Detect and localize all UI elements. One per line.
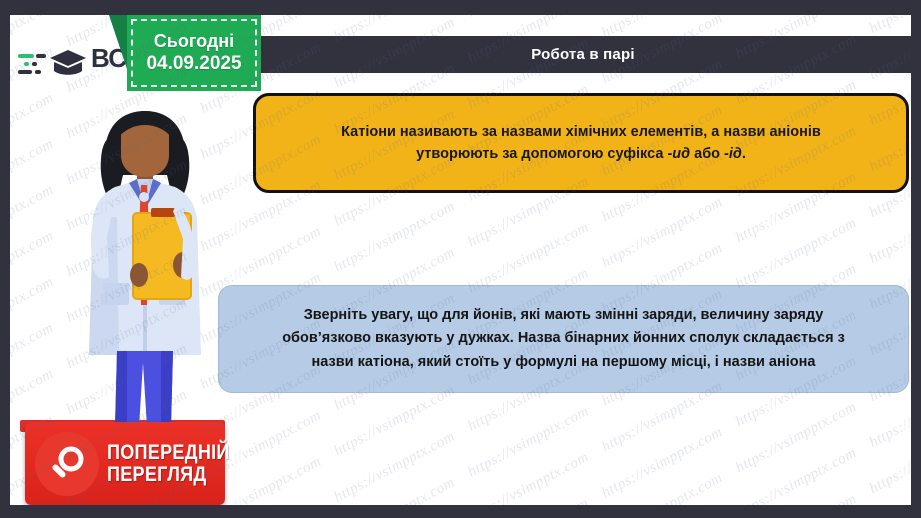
blue-callout-text: Зверніть увагу, що для йонів, які мають …: [282, 304, 845, 374]
preview-button[interactable]: ПОПЕРЕДНІЙ ПЕРЕГЛЯД: [25, 422, 225, 505]
speed-lines-icon: [18, 46, 52, 80]
yellow-suffix-2: -ід: [724, 146, 742, 162]
yellow-callout-text: Катіони називають за назвами хімічних ел…: [341, 121, 821, 166]
blue-line-3: назви катіона, який стоїть у формулі на …: [312, 354, 816, 370]
scientist-with-clipboard-illustration: [55, 105, 235, 437]
yellow-line-2-pre: утворюють за допомогою суфікса: [416, 146, 667, 162]
blue-line-2: обов’язково вказують у дужках. Назва бін…: [282, 330, 845, 346]
blue-callout-card: Зверніть увагу, що для йонів, які мають …: [218, 285, 909, 393]
slide-frame: ВСІМ pptx Робота в парі Катіони називают…: [0, 0, 921, 518]
yellow-suffix-1: -ид: [667, 146, 690, 162]
magnifier-icon: [35, 432, 99, 496]
yellow-line-2-mid: або: [690, 146, 724, 162]
yellow-callout-card: Катіони називають за назвами хімічних ел…: [253, 93, 909, 193]
preview-label-line-2: ПЕРЕГЛЯД: [107, 464, 230, 485]
blue-line-1: Зверніть увагу, що для йонів, які мають …: [304, 307, 824, 323]
slide-canvas: ВСІМ pptx Робота в парі Катіони називают…: [10, 15, 911, 505]
page-title: Робота в парі: [531, 46, 634, 63]
yellow-line-1: Катіони називають за назвами хімічних ел…: [341, 124, 821, 140]
yellow-line-2-post: .: [742, 146, 746, 162]
graduation-cap-icon: [48, 45, 88, 81]
today-date-badge: Сьогодні 04.09.2025: [127, 15, 261, 91]
preview-label-line-1: ПОПЕРЕДНІЙ: [107, 442, 230, 463]
today-date: 04.09.2025: [146, 53, 241, 75]
preview-button-label: ПОПЕРЕДНІЙ ПЕРЕГЛЯД: [107, 442, 250, 485]
today-label: Сьогодні: [154, 31, 234, 52]
slide-title-bar: Робота в парі: [255, 36, 911, 73]
